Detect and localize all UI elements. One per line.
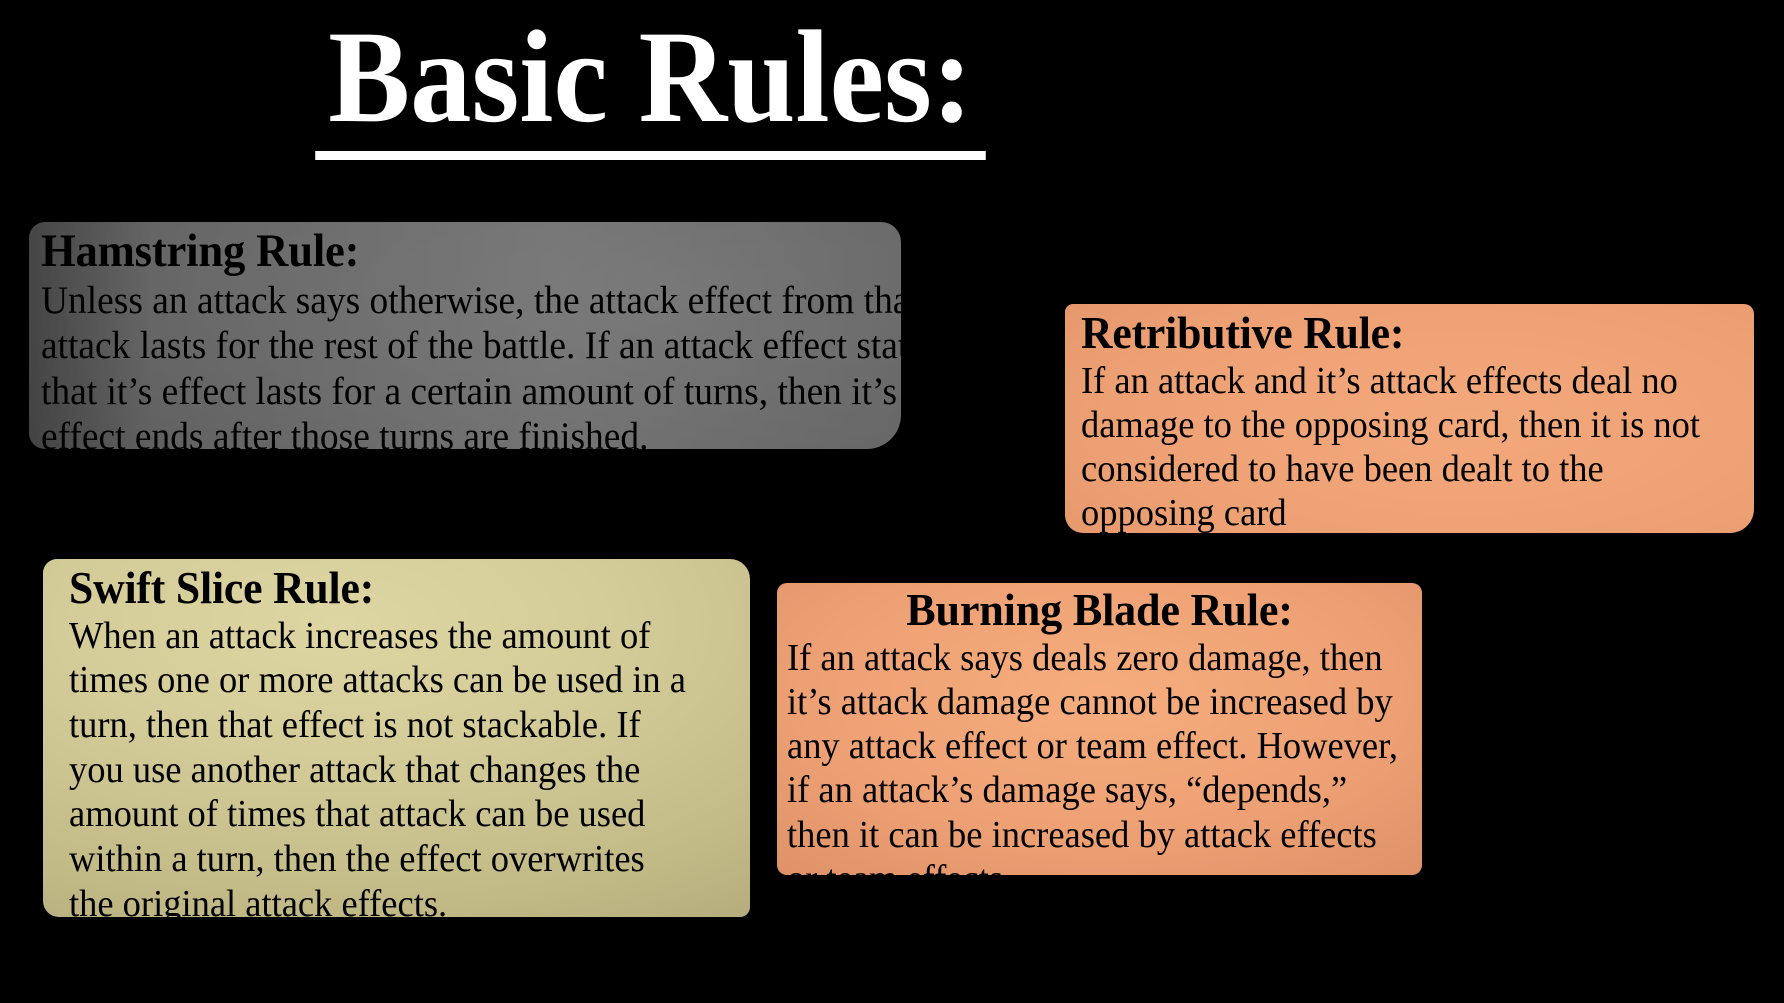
page-title-container: Basic Rules: <box>0 10 1300 160</box>
rule-card-title: Swift Slice Rule: <box>69 563 705 613</box>
slide-canvas: Basic Rules: Hamstring Rule: Unless an a… <box>0 0 1784 1003</box>
rule-text-line: When an attack increases the amount of <box>69 614 711 659</box>
rule-text-line: Unless an attack says otherwise, the att… <box>41 278 857 323</box>
rule-card-swift-slice: Swift Slice Rule: When an attack increas… <box>43 559 750 917</box>
rule-text-line: times one or more attacks can be used in… <box>69 658 711 703</box>
rule-text-line: any attack effect or team effect. Howeve… <box>787 724 1387 768</box>
rule-card-burning-blade: Burning Blade Rule: If an attack says de… <box>777 583 1422 875</box>
rule-card-body: Unless an attack says otherwise, the att… <box>41 278 857 449</box>
rule-text-line: if an attack’s damage says, “depends,” <box>787 768 1387 812</box>
page-title: Basic Rules: <box>315 10 986 160</box>
rule-text-line: then it can be increased by attack effec… <box>787 813 1387 857</box>
rule-card-body: When an attack increases the amount of t… <box>69 614 711 917</box>
rule-text-line: turn, then that effect is not stackable.… <box>69 703 711 748</box>
rule-card-title: Retributive Rule: <box>1081 308 1709 358</box>
rule-text-line: effect ends after those turns are finish… <box>41 414 857 449</box>
rule-text-line: If an attack and it’s attack effects dea… <box>1081 359 1716 403</box>
rule-text-line: it’s attack damage cannot be increased b… <box>787 680 1387 724</box>
rule-card-body: If an attack and it’s attack effects dea… <box>1081 359 1716 533</box>
rule-text-line: attack lasts for the rest of the battle.… <box>41 323 857 368</box>
rule-text-line: considered to have been dealt to the <box>1081 447 1716 491</box>
rule-card-title: Hamstring Rule: <box>41 226 849 277</box>
rule-text-line: amount of times that attack can be used <box>69 792 711 837</box>
rule-card-retributive: Retributive Rule: If an attack and it’s … <box>1065 304 1754 533</box>
rule-text-line: the original attack effects. <box>69 882 711 917</box>
rule-text-line: If an attack says deals zero damage, the… <box>787 636 1387 680</box>
rule-text-line: within a turn, then the effect overwrite… <box>69 837 711 882</box>
rule-card-body: If an attack says deals zero damage, the… <box>787 636 1387 875</box>
rule-text-line: opposing card <box>1081 491 1716 533</box>
rule-text-line: or team effects. <box>787 857 1387 875</box>
rule-text-line: damage to the opposing card, then it is … <box>1081 403 1716 447</box>
rule-text-line: that it’s effect lasts for a certain amo… <box>41 369 857 414</box>
rule-text-line: you use another attack that changes the <box>69 748 711 793</box>
rule-card-hamstring: Hamstring Rule: Unless an attack says ot… <box>29 222 901 449</box>
rule-card-title: Burning Blade Rule: <box>800 585 1400 635</box>
